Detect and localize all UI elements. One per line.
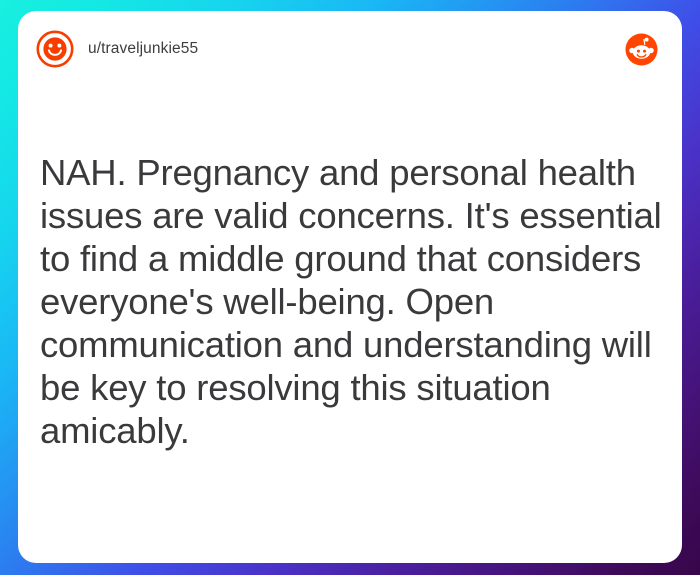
comment-text: NAH. Pregnancy and personal health issue… (40, 151, 664, 452)
smiley-face-avatar-icon[interactable] (36, 30, 74, 68)
gradient-backdrop: u/traveljunkie55 (0, 0, 700, 575)
username-label: u/traveljunkie55 (88, 40, 198, 58)
reddit-snoo-icon[interactable] (625, 33, 658, 66)
reddit-comment-card: u/traveljunkie55 (18, 11, 682, 563)
comment-card-header: u/traveljunkie55 (18, 11, 682, 87)
